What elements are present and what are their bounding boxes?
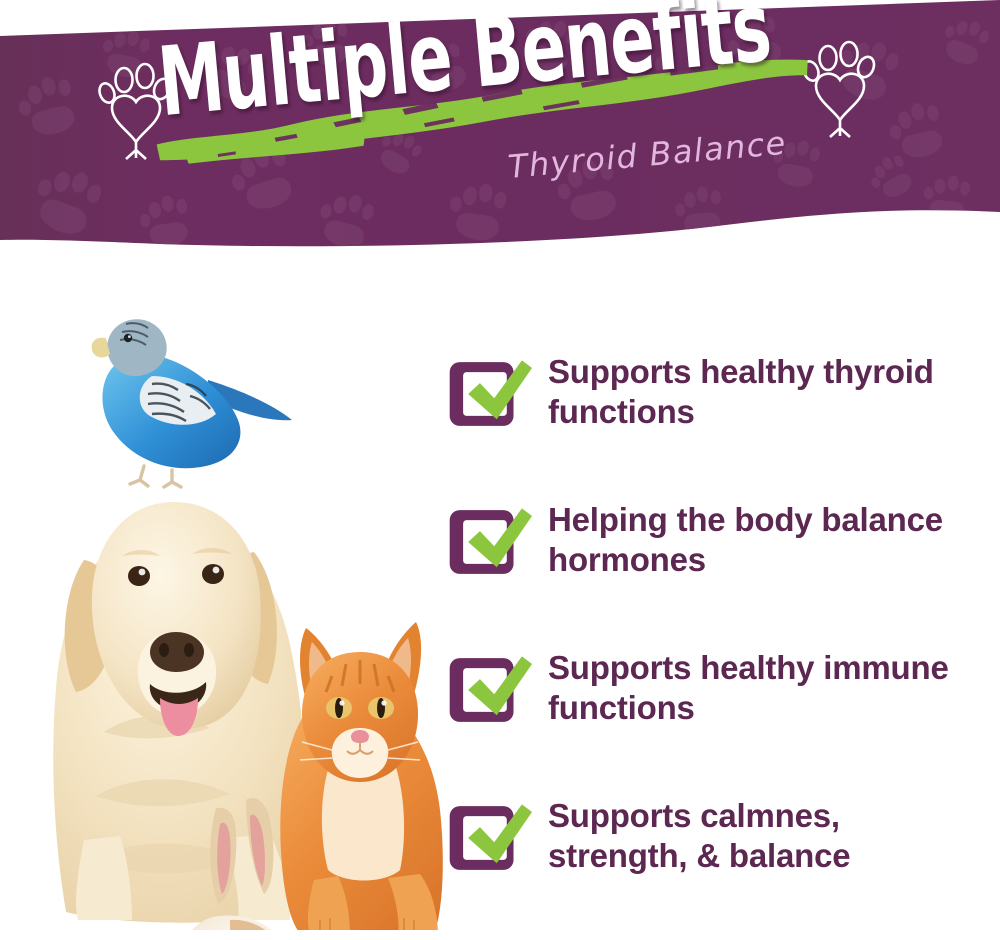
benefit-label: Supports healthy thyroid functions: [548, 352, 988, 433]
benefit-item[interactable]: Helping the body balance hormones: [448, 496, 988, 644]
checkbox-checked-icon[interactable]: [448, 648, 532, 732]
orange-cat-photo: [280, 622, 443, 930]
benefit-item[interactable]: Supports healthy immune functions: [448, 644, 988, 792]
banner-background-shape: [0, 0, 1000, 260]
benefit-item[interactable]: Supports calmnes, strength, & balance: [448, 792, 988, 940]
benefit-item[interactable]: Supports healthy thyroid functions: [448, 348, 988, 496]
checkbox-checked-icon[interactable]: [448, 352, 532, 436]
header-banner: Multiple Benefits Thyroid Balance: [0, 0, 1000, 260]
checkbox-checked-icon[interactable]: [448, 796, 532, 880]
benefits-list: Supports healthy thyroid functions Helpi…: [448, 348, 988, 940]
benefit-label: Supports calmnes, strength, & balance: [548, 796, 988, 877]
benefit-label: Helping the body balance hormones: [548, 500, 988, 581]
checkbox-checked-icon[interactable]: [448, 500, 532, 584]
budgerigar-photo: [92, 319, 292, 487]
pet-group-photo: [40, 280, 460, 930]
benefit-label: Supports healthy immune functions: [548, 648, 988, 729]
